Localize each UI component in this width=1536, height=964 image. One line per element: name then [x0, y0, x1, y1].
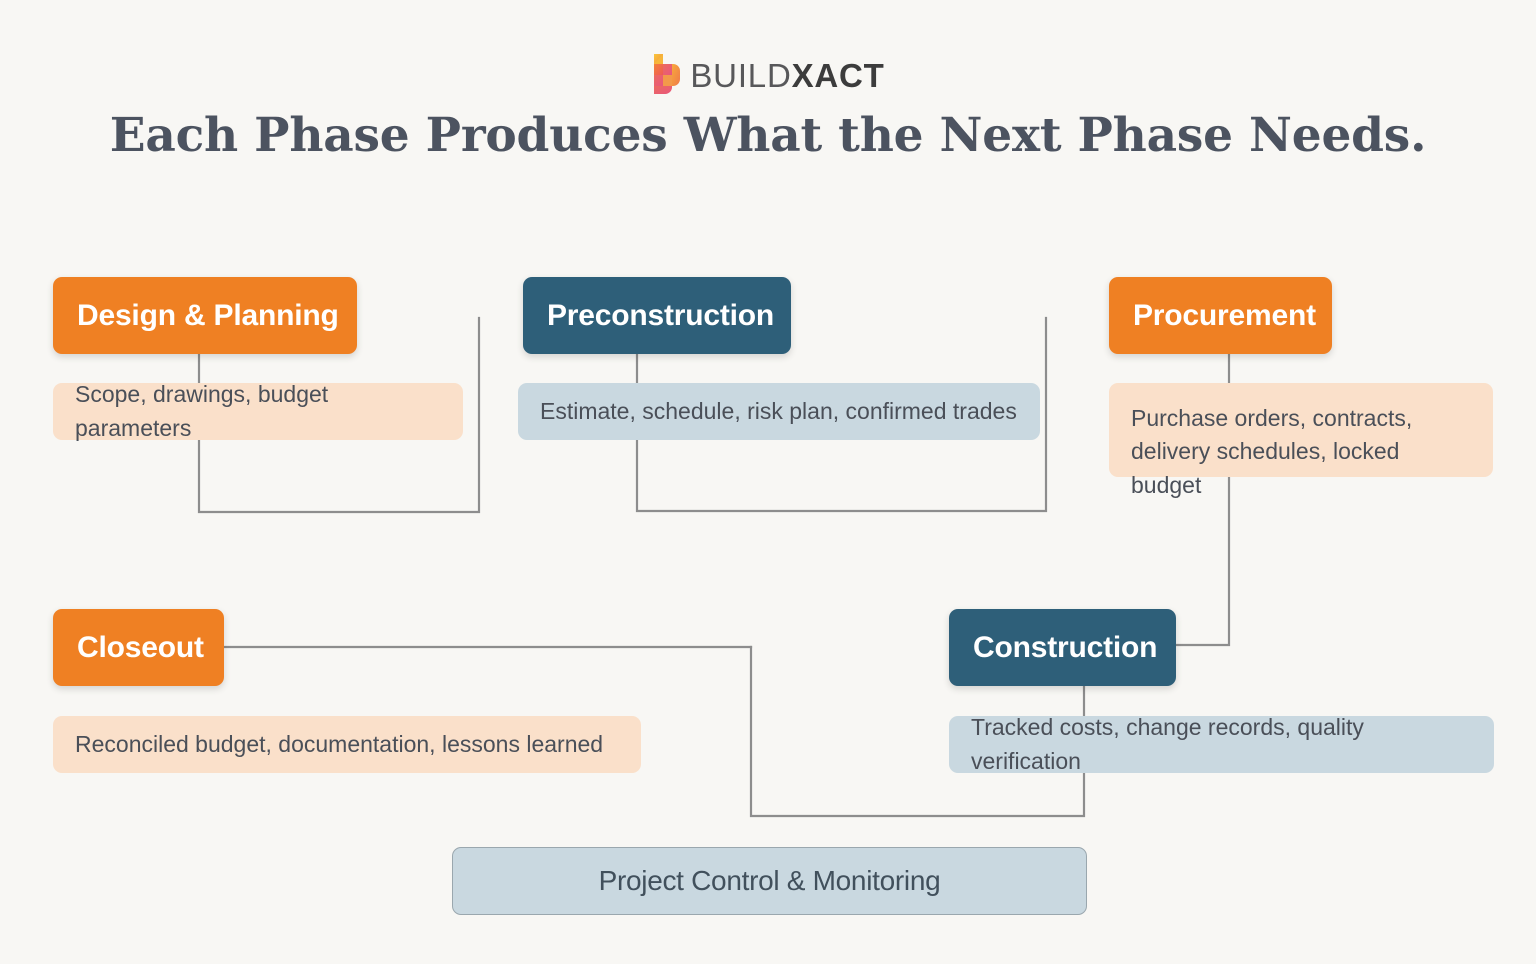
brand-wordmark: BUILDXACT [690, 59, 884, 92]
page-title: Each Phase Produces What the Next Phase … [0, 108, 1536, 163]
output-box-preconstruction: Estimate, schedule, risk plan, confirmed… [518, 383, 1040, 440]
project-control-monitoring-box[interactable]: Project Control & Monitoring [452, 847, 1087, 915]
output-box-construction: Tracked costs, change records, quality v… [949, 716, 1494, 773]
output-box-design-planning: Scope, drawings, budget parameters [53, 383, 463, 440]
output-text-line-1: Purchase orders, contracts, [1131, 402, 1471, 435]
phase-box-closeout[interactable]: Closeout [53, 609, 224, 686]
phase-label: Construction [973, 631, 1157, 665]
phase-box-construction[interactable]: Construction [949, 609, 1176, 686]
output-text-line-2: delivery schedules, locked budget [1131, 435, 1471, 502]
phase-box-procurement[interactable]: Procurement [1109, 277, 1332, 354]
footer-label: Project Control & Monitoring [599, 865, 941, 897]
output-text: Estimate, schedule, risk plan, confirmed… [540, 395, 1017, 428]
phase-label: Design & Planning [77, 299, 339, 333]
phase-box-preconstruction[interactable]: Preconstruction [523, 277, 791, 354]
infographic-canvas: BUILDXACT Each Phase Produces What the N… [0, 0, 1536, 964]
output-box-procurement: Purchase orders, contracts, delivery sch… [1109, 383, 1493, 477]
buildxact-b-mark-icon [651, 54, 681, 96]
phase-label: Procurement [1133, 299, 1316, 333]
brand-logo: BUILDXACT [0, 52, 1536, 98]
output-text: Reconciled budget, documentation, lesson… [75, 728, 603, 761]
phase-label: Closeout [77, 631, 204, 665]
phase-box-design-planning[interactable]: Design & Planning [53, 277, 357, 354]
phase-label: Preconstruction [547, 299, 774, 333]
output-text: Scope, drawings, budget parameters [75, 378, 441, 445]
brand-word-build: BUILD [690, 57, 791, 94]
output-text: Tracked costs, change records, quality v… [971, 711, 1472, 778]
brand-word-xact: XACT [792, 57, 885, 94]
output-box-closeout: Reconciled budget, documentation, lesson… [53, 716, 641, 773]
